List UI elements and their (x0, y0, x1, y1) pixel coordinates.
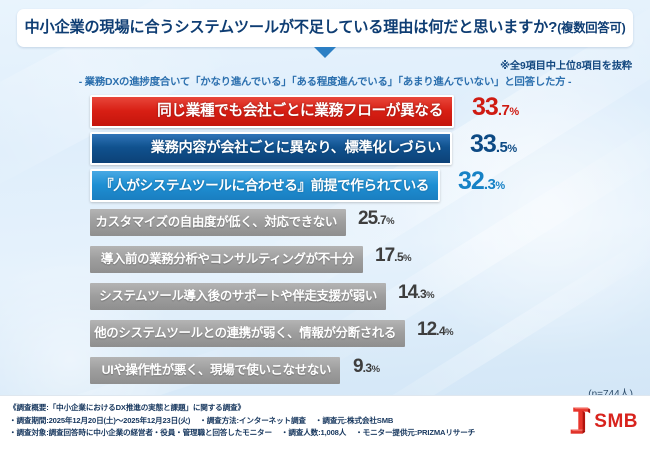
survey-method: ・調査方法:インターネット調査 (199, 416, 306, 425)
value-whole: 14 (398, 283, 417, 302)
question-title-suffix: (複数回答可) (557, 21, 625, 35)
value-percent-sign: % (445, 328, 453, 338)
value-whole: 9 (353, 357, 363, 376)
infographic-root: 中小企業の現場に合うシステムツールが不足している理由は何だと思いますか?(複数回… (0, 0, 650, 450)
bar-chart: 同じ業種でも会社ごとに業務フローが異なる 33.7% 業務内容が会社ごとに異なり… (0, 94, 650, 390)
value-percent-sign: % (509, 107, 519, 118)
bar-3: 『人がシステムツールに合わせる』前提で作られている (90, 169, 440, 202)
value-whole: 33 (470, 132, 496, 157)
bar-6: システムツール導入後のサポートや伴走支援が弱い (90, 283, 386, 310)
chart-row: 同じ業種でも会社ごとに業務フローが異なる 33.7% (0, 94, 650, 131)
chart-row: 業務内容が会社ごとに異なり、標準化しづらい 33.5% (0, 131, 650, 168)
survey-overview-line-1: 《調査概要:「中小企業におけるDX推進の実態と課題」に関する調査》 (9, 402, 475, 415)
value-whole: 32 (458, 169, 484, 194)
value-percent-sign: % (386, 217, 394, 227)
value-percent-sign: % (507, 144, 517, 155)
value-percent-sign: % (372, 365, 380, 375)
excerpt-note: ※全9項目中上位8項目を抜粋 (500, 57, 632, 72)
smb-logo-text: SMB (594, 412, 638, 431)
triangle-down-icon (314, 47, 336, 58)
bar-label: カスタマイズの自由度が低く、対応できない (96, 216, 337, 228)
value-decimal: .3 (363, 362, 372, 374)
bar-2: 業務内容が会社ごとに異なり、標準化しづらい (90, 132, 452, 165)
bar-label: 他のシステムツールとの連携が弱く、情報が分断される (94, 327, 396, 339)
smb-logo-icon (569, 406, 591, 436)
chart-row: 導入前の業務分析やコンサルティングが不十分 17.5% (0, 242, 650, 279)
chart-row: 他のシステムツールとの連携が弱く、情報が分断される 12.4% (0, 316, 650, 353)
bar-value-1: 33.7% (472, 95, 519, 120)
value-percent-sign: % (403, 254, 411, 264)
monitor-provider: ・モニター提供元:PRIZMAリサーチ (355, 428, 475, 437)
survey-overview-line-2: ・調査期間:2025年12月20日(土)〜2025年12月23日(火)・調査方法… (9, 415, 475, 428)
question-title-main: 中小企業の現場に合うシステムツールが不足している理由は何だと思いますか? (24, 19, 557, 36)
condition-note: - 業務DXの進捗度合いて「かなり進んでいる」「ある程度進んでいる」「あまり進ん… (0, 73, 650, 88)
bar-5: 導入前の業務分析やコンサルティングが不十分 (90, 246, 363, 273)
bar-value-3: 32.3% (458, 169, 505, 194)
value-decimal: .4 (436, 325, 445, 337)
bar-value-2: 33.5% (470, 132, 517, 157)
value-percent-sign: % (495, 181, 505, 192)
survey-source: ・調査元:株式会社SMB (315, 416, 393, 425)
bar-value-7: 12.4% (417, 320, 454, 339)
survey-target: ・調査対象:調査回答時に中小企業の経営者・役員・管理職と回答したモニター (9, 428, 272, 437)
value-whole: 33 (472, 95, 498, 120)
bar-value-4: 25.7% (358, 209, 395, 228)
page-title: 中小企業の現場に合うシステムツールが不足している理由は何だと思いますか?(複数回… (24, 20, 625, 35)
chart-row: UIや操作性が悪く、現場で使いこなせない 9.3% (0, 353, 650, 390)
chart-row: システムツール導入後のサポートや伴走支援が弱い 14.3% (0, 279, 650, 316)
value-percent-sign: % (426, 291, 434, 301)
value-decimal: .3 (417, 288, 426, 300)
smb-logo: SMB (569, 406, 638, 436)
survey-overview-line-3: ・調査対象:調査回答時に中小企業の経営者・役員・管理職と回答したモニター・調査人… (9, 427, 475, 440)
bar-value-8: 9.3% (353, 357, 380, 376)
bar-label: 『人がシステムツールに合わせる』前提で作られている (100, 179, 429, 193)
bar-label: システムツール導入後のサポートや伴走支援が弱い (99, 290, 377, 302)
bar-label: 同じ業種でも会社ごとに業務フローが異なる (157, 104, 443, 119)
survey-count: ・調査人数:1,008人 (281, 428, 346, 437)
chart-row: カスタマイズの自由度が低く、対応できない 25.7% (0, 205, 650, 242)
survey-overview: 《調査概要:「中小企業におけるDX推進の実態と課題」に関する調査》 ・調査期間:… (9, 402, 475, 440)
value-decimal: .5 (496, 140, 508, 155)
bar-label: UIや操作性が悪く、現場で使いこなせない (102, 364, 331, 376)
value-whole: 25 (358, 209, 377, 228)
value-decimal: .7 (498, 103, 510, 118)
value-whole: 12 (417, 320, 436, 339)
bar-4: カスタマイズの自由度が低く、対応できない (90, 209, 346, 236)
question-title-box: 中小企業の現場に合うシステムツールが不足している理由は何だと思いますか?(複数回… (17, 9, 633, 47)
footer-bar: 《調査概要:「中小企業におけるDX推進の実態と課題」に関する調査》 ・調査期間:… (0, 395, 650, 450)
value-decimal: .3 (484, 177, 496, 192)
bar-1: 同じ業種でも会社ごとに業務フローが異なる (90, 95, 454, 128)
value-decimal: .5 (394, 251, 403, 263)
value-whole: 17 (375, 246, 394, 265)
chart-row: 『人がシステムツールに合わせる』前提で作られている 32.3% (0, 168, 650, 205)
bar-value-5: 17.5% (375, 246, 412, 265)
bar-value-6: 14.3% (398, 283, 435, 302)
bar-label: 業務内容が会社ごとに異なり、標準化しづらい (151, 141, 441, 155)
bar-7: 他のシステムツールとの連携が弱く、情報が分断される (90, 320, 405, 347)
value-decimal: .7 (377, 214, 386, 226)
bar-8: UIや操作性が悪く、現場で使いこなせない (90, 357, 340, 384)
survey-period: ・調査期間:2025年12月20日(土)〜2025年12月23日(火) (9, 416, 190, 425)
bar-label: 導入前の業務分析やコンサルティングが不十分 (101, 253, 354, 265)
